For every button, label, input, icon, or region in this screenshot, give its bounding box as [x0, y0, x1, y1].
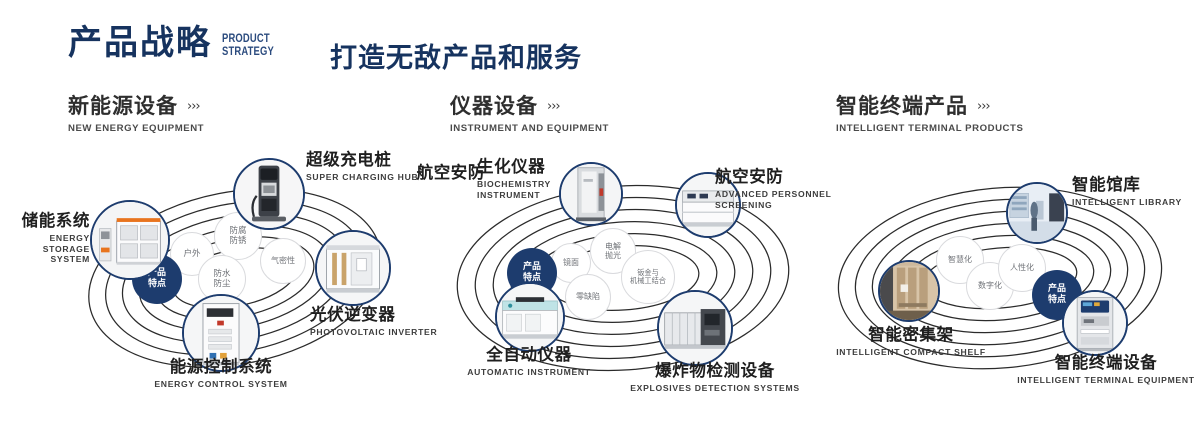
label-energy-control-system: 能源控制系统 ENERGY CONTROL SYSTEM	[130, 358, 312, 390]
section-title-en: INTELLIGENT TERMINAL PRODUCTS	[836, 123, 1023, 134]
feature-bubble-line2: 机械工结合	[630, 277, 666, 285]
page-title-en-line2: STRATEGY	[222, 46, 274, 58]
section-head-intelligent-terminal: 智能终端产品 ››› INTELLIGENT TERMINAL PRODUCTS	[836, 95, 1023, 134]
feature-bubble-line2: 抛光	[605, 251, 621, 260]
node-label-en: INTELLIGENT TERMINAL EQUIPMENT	[1010, 375, 1200, 386]
node-label-cn: 智能馆库	[1072, 176, 1200, 195]
cluster-instrument: 镜面 电解 抛光 钣金与 机械工结合 零缺陷 产品 特点 航空安防	[425, 150, 825, 410]
chevron-right-icon: ›››	[187, 99, 200, 114]
node-intelligent-terminal-equipment[interactable]	[1062, 290, 1128, 356]
node-intelligent-compact-shelf[interactable]	[878, 260, 940, 322]
core-bubble-line2: 特点	[148, 279, 166, 290]
library-room-icon	[1008, 184, 1066, 242]
feature-bubble-line1: 防水	[213, 269, 230, 279]
feature-bubble-line2: 防锈	[229, 236, 246, 246]
node-label-cn: 能源控制系统	[130, 358, 312, 377]
battery-cabinet-icon	[92, 202, 168, 278]
node-label-cn: 智能密集架	[830, 326, 992, 345]
node-label-en: INTELLIGENT COMPACT SHELF	[830, 347, 992, 358]
chevron-right-icon: ›››	[547, 99, 560, 114]
core-bubble-line1: 产品	[523, 262, 541, 273]
node-label-cn: 全自动仪器	[445, 346, 613, 365]
node-explosives-detection-systems[interactable]	[657, 290, 733, 366]
feature-bubble-line1: 数字化	[978, 281, 1002, 290]
feature-bubble: 气密性	[260, 238, 306, 284]
self-service-kiosk-icon	[1064, 292, 1126, 354]
page-subtitle: 打造无敌产品和服务	[330, 36, 582, 75]
node-super-charging-hub[interactable]	[233, 158, 305, 230]
label-aviation-security-left: 航空安防	[395, 164, 485, 183]
page-title: 产品战略 PRODUCT STRATEGY	[68, 26, 285, 60]
feature-bubble-line1: 镜面	[563, 258, 579, 267]
section-title-cn: 智能终端产品	[836, 95, 968, 118]
label-energy-storage-system: 储能系统 ENERGY STORAGE SYSTEM	[2, 212, 90, 265]
label-intelligent-library: 智能馆库 INTELLIGENT LIBRARY	[1072, 176, 1200, 208]
node-label-cn: 爆炸物检测设备	[617, 362, 813, 381]
node-automatic-instrument[interactable]	[495, 282, 565, 352]
section-head-instrument: 仪器设备 ››› INSTRUMENT AND EQUIPMENT	[450, 95, 609, 134]
feature-bubble-line1: 电解	[605, 242, 621, 251]
node-intelligent-library[interactable]	[1006, 182, 1068, 244]
node-label-cn: 生化仪器	[477, 158, 597, 177]
node-energy-storage-system[interactable]	[90, 200, 170, 280]
node-label-en: ENERGY STORAGE SYSTEM	[2, 233, 90, 265]
infographic-canvas: 产品战略 PRODUCT STRATEGY 打造无敌产品和服务 新能源设备 ››…	[0, 0, 1200, 422]
node-label-cn: 智能终端设备	[1010, 354, 1200, 373]
explosives-detector-icon	[659, 292, 731, 364]
label-intelligent-terminal-equipment: 智能终端设备 INTELLIGENT TERMINAL EQUIPMENT	[1010, 354, 1200, 386]
page-title-en-line1: PRODUCT	[222, 33, 274, 45]
page-title-cn: 产品战略	[68, 26, 212, 60]
node-photovoltaic-inverter[interactable]	[315, 230, 391, 306]
node-label-en: EXPLOSIVES DETECTION SYSTEMS	[617, 383, 813, 394]
charging-pile-icon	[235, 160, 303, 228]
section-title-en: NEW ENERGY EQUIPMENT	[68, 123, 204, 134]
chevron-right-icon: ›››	[977, 99, 990, 114]
page-title-en: PRODUCT STRATEGY	[222, 33, 274, 58]
label-explosives-detection-systems: 爆炸物检测设备 EXPLOSIVES DETECTION SYSTEMS	[617, 362, 813, 394]
section-title-cn: 新能源设备	[68, 95, 178, 118]
cluster-new-energy: 户外 防腐 防锈 防水 防尘 气密性 产品 特点	[50, 150, 450, 410]
label-intelligent-compact-shelf: 智能密集架 INTELLIGENT COMPACT SHELF	[830, 326, 992, 358]
label-biochemistry-instrument: 生化仪器 BIOCHEMISTRY INSTRUMENT	[477, 158, 597, 200]
feature-bubble-line1: 零缺陷	[576, 292, 600, 301]
feature-bubble-line1: 户外	[183, 249, 200, 259]
node-label-cn: 储能系统	[2, 212, 90, 231]
label-automatic-instrument: 全自动仪器 AUTOMATIC INSTRUMENT	[445, 346, 613, 378]
node-label-en: AUTOMATIC INSTRUMENT	[445, 367, 613, 378]
feature-bubble-line1: 人性化	[1010, 263, 1034, 272]
node-label-en: BIOCHEMISTRY INSTRUMENT	[477, 179, 597, 200]
compact-shelf-icon	[880, 262, 938, 320]
feature-bubble: 零缺陷	[565, 274, 611, 320]
feature-bubble-line2: 防尘	[213, 279, 230, 289]
automatic-analyzer-icon	[497, 284, 563, 350]
node-label-en: ENERGY CONTROL SYSTEM	[130, 379, 312, 390]
pv-inverter-icon	[317, 232, 389, 304]
cluster-intelligent-terminal: 智慧化 数字化 人性化 产品 特点	[810, 150, 1200, 410]
section-title-cn: 仪器设备	[450, 95, 538, 118]
section-head-new-energy: 新能源设备 ››› NEW ENERGY EQUIPMENT	[68, 95, 204, 134]
section-title-en: INSTRUMENT AND EQUIPMENT	[450, 123, 609, 134]
node-label-en: INTELLIGENT LIBRARY	[1072, 197, 1200, 208]
feature-bubble-line1: 智慧化	[948, 255, 972, 264]
node-label-cn: 航空安防	[395, 164, 485, 183]
feature-bubble-line1: 气密性	[271, 256, 295, 265]
